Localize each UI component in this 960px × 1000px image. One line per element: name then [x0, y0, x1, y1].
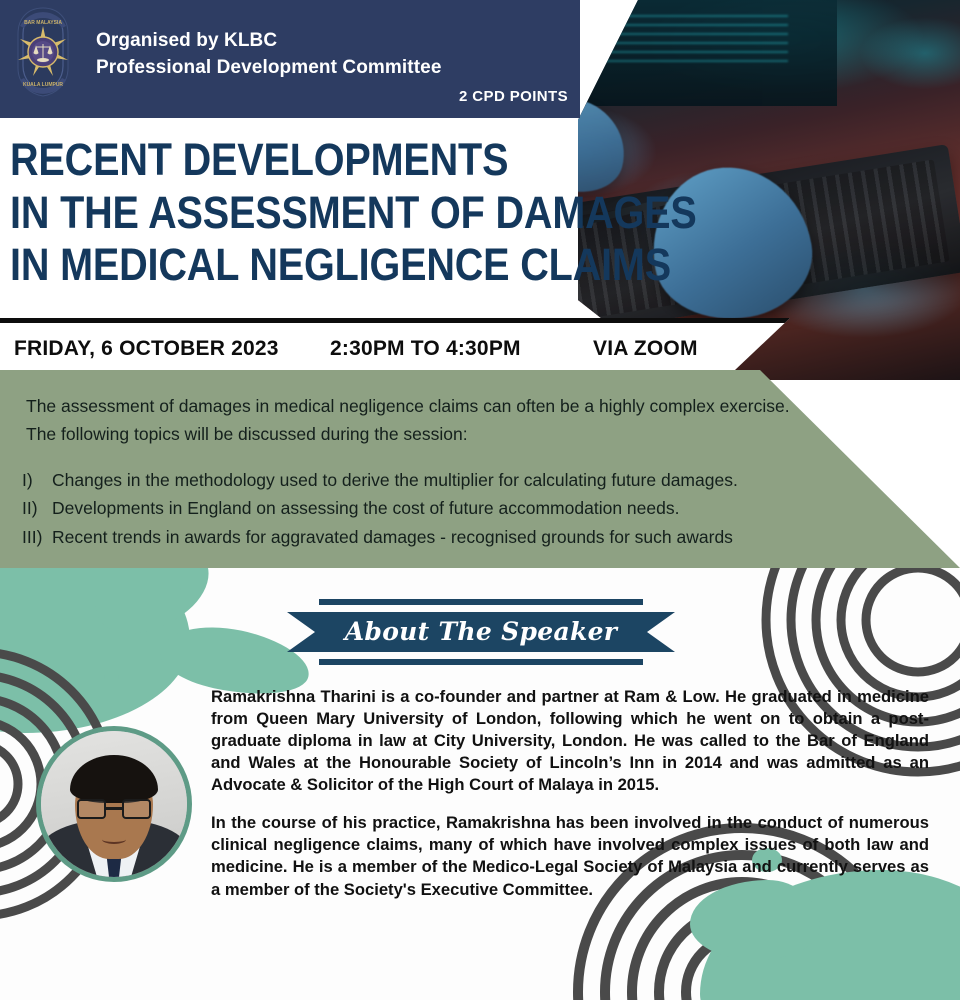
- glasses-lens-left: [77, 799, 106, 819]
- organiser-line-2: Professional Development Committee: [96, 55, 441, 82]
- bio-paragraph-2: In the course of his practice, Ramakrish…: [211, 812, 929, 900]
- topic-number: I): [22, 466, 52, 494]
- glasses-icon: [77, 799, 151, 819]
- page-title: RECENT DEVELOPMENTS IN THE ASSESSMENT OF…: [10, 134, 538, 292]
- glasses-lens-right: [122, 799, 151, 819]
- topic-text: Recent trends in awards for aggravated d…: [52, 523, 733, 551]
- topic-item: II) Developments in England on assessing…: [22, 494, 892, 522]
- svg-text:BAR MALAYSIA: BAR MALAYSIA: [24, 20, 62, 26]
- glasses-bridge: [106, 807, 122, 810]
- mint-dot-1: [180, 578, 202, 600]
- topics-list: I) Changes in the methodology used to de…: [22, 466, 892, 551]
- event-date: FRIDAY, 6 OCTOBER 2023: [14, 337, 279, 361]
- speaker-section: About The Speaker Ramakrishna Tharini is…: [0, 568, 960, 1000]
- description-intro: The assessment of damages in medical neg…: [26, 392, 816, 449]
- title-line-3: IN MEDICAL NEGLIGENCE CLAIMS: [10, 239, 538, 292]
- event-poster: BAR MALAYSIA KUALA LUMPUR Organised by K…: [0, 0, 960, 1000]
- description-panel: The assessment of damages in medical neg…: [0, 370, 960, 568]
- topic-item: III) Recent trends in awards for aggrava…: [22, 523, 892, 551]
- speaker-bio: Ramakrishna Tharini is a co-founder and …: [211, 686, 929, 901]
- organiser-line-1: Organised by KLBC: [96, 28, 441, 55]
- title-block: RECENT DEVELOPMENTS IN THE ASSESSMENT OF…: [0, 118, 620, 318]
- event-platform: VIA ZOOM: [593, 337, 698, 361]
- topic-text: Developments in England on assessing the…: [52, 494, 679, 522]
- event-time: 2:30PM TO 4:30PM: [330, 337, 521, 361]
- cpd-points-badge: 2 CPD POINTS: [459, 88, 568, 105]
- topic-number: III): [22, 523, 52, 551]
- about-speaker-banner: About The Speaker: [287, 599, 675, 665]
- avatar-mouth: [102, 835, 126, 844]
- ribbon-bar-bottom: [319, 659, 643, 665]
- title-line-2: IN THE ASSESSMENT OF DAMAGES: [10, 187, 538, 240]
- bio-paragraph-1: Ramakrishna Tharini is a co-founder and …: [211, 686, 929, 796]
- ribbon-shape: About The Speaker: [287, 612, 675, 652]
- topic-text: Changes in the methodology used to deriv…: [52, 466, 738, 494]
- klbc-crest-logo: BAR MALAYSIA KUALA LUMPUR: [8, 4, 78, 100]
- svg-text:KUALA LUMPUR: KUALA LUMPUR: [23, 82, 63, 88]
- poster-header: BAR MALAYSIA KUALA LUMPUR Organised by K…: [0, 0, 580, 118]
- topic-number: II): [22, 494, 52, 522]
- organiser-text: Organised by KLBC Professional Developme…: [96, 28, 441, 82]
- title-line-1: RECENT DEVELOPMENTS: [10, 134, 538, 187]
- ribbon-bar-top: [319, 599, 643, 605]
- about-speaker-label: About The Speaker: [287, 612, 675, 652]
- avatar: [36, 726, 192, 882]
- topic-item: I) Changes in the methodology used to de…: [22, 466, 892, 494]
